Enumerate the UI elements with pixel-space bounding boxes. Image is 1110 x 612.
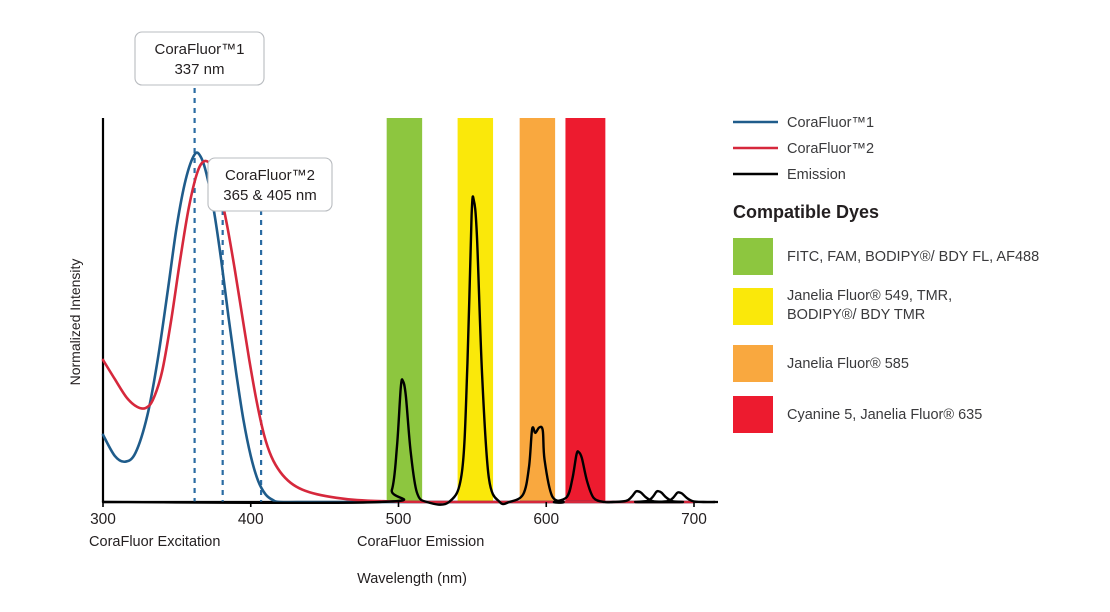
dye-label-2-line-1: Janelia Fluor® 549, TMR, (787, 288, 952, 304)
green-band (387, 118, 422, 502)
dye-label-4-line-1: Cyanine 5, Janelia Fluor® 635 (787, 407, 982, 423)
spectra-figure: CoraFluor™1337 nmCoraFluor™2365 & 405 nm… (0, 0, 1110, 612)
chart-canvas: CoraFluor™1337 nmCoraFluor™2365 & 405 nm… (0, 0, 1110, 612)
excitation-markers (195, 88, 261, 502)
x-tick-label: 300 (90, 511, 116, 528)
legend-label-2: CoraFluor™2 (787, 141, 874, 157)
dye-label-1-line-1: FITC, FAM, BODIPY®/ BDY FL, AF488 (787, 249, 1039, 265)
dye-swatch-4 (733, 396, 773, 433)
yellow-band (458, 118, 493, 502)
x-tick-label: 600 (533, 511, 559, 528)
x-tick-label: 500 (386, 511, 412, 528)
callout-2: CoraFluor™2365 & 405 nm (208, 158, 332, 211)
dye-label-2-line-2: BODIPY®/ BDY TMR (787, 307, 925, 323)
callout-line-2: 337 nm (174, 61, 224, 78)
orange-band (520, 118, 555, 502)
red-band (565, 118, 605, 502)
compatible-dyes-heading: Compatible Dyes (733, 202, 879, 222)
legend-panel: CoraFluor™1CoraFluor™2EmissionCompatible… (733, 115, 1039, 433)
dye-label-3-line-1: Janelia Fluor® 585 (787, 356, 909, 372)
callout-1: CoraFluor™1337 nm (135, 32, 264, 85)
x-axis-title: Wavelength (nm) (357, 571, 467, 587)
region-label-1: CoraFluor Excitation (89, 534, 220, 550)
dye-swatch-2 (733, 288, 773, 325)
callout-boxes: CoraFluor™1337 nmCoraFluor™2365 & 405 nm (135, 32, 332, 211)
dye-swatch-3 (733, 345, 773, 382)
color-bands (387, 118, 606, 502)
legend-label-1: CoraFluor™1 (787, 115, 874, 131)
x-tick-label: 400 (238, 511, 264, 528)
callout-line-1: CoraFluor™1 (154, 41, 244, 58)
callout-line-2: 365 & 405 nm (223, 187, 316, 204)
dye-swatch-1 (733, 238, 773, 275)
y-axis-title: Normalized Intensity (67, 259, 83, 386)
region-label-2: CoraFluor Emission (357, 534, 484, 550)
legend-label-3: Emission (787, 167, 846, 183)
callout-line-1: CoraFluor™2 (225, 167, 315, 184)
x-tick-label: 700 (681, 511, 707, 528)
